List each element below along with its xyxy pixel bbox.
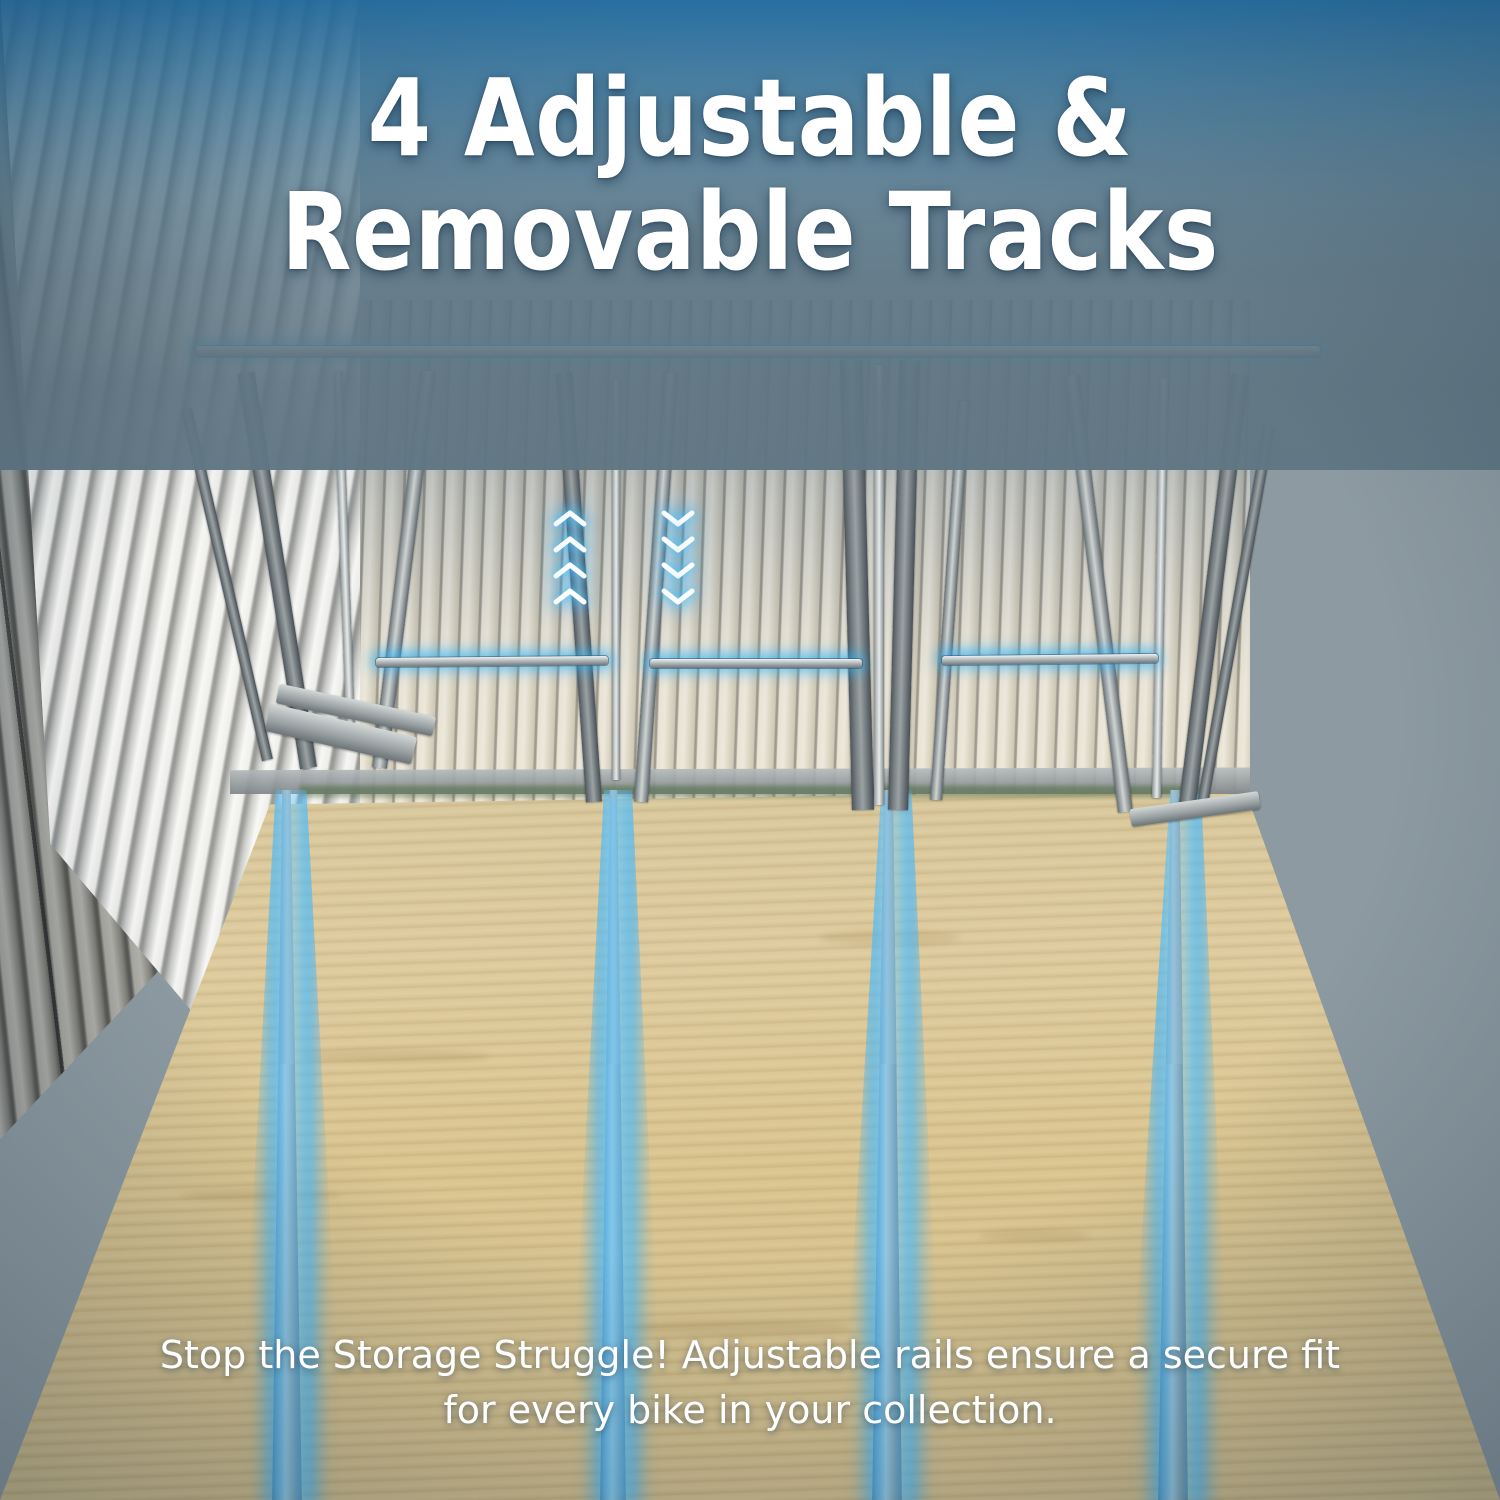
- headline: 4 Adjustable & Removable Tracks: [38, 62, 1463, 291]
- caption: Stop the Storage Struggle! Adjustable ra…: [150, 1328, 1350, 1438]
- headline-line-1: 4 Adjustable &: [38, 62, 1463, 176]
- caption-line-1: Stop the Storage Struggle! Adjustable ra…: [150, 1328, 1350, 1383]
- caption-line-2: for every bike in your collection.: [150, 1383, 1350, 1438]
- headline-line-2: Removable Tracks: [38, 176, 1463, 290]
- product-feature-image: 4 Adjustable & Removable Tracks Stop the…: [0, 0, 1500, 1500]
